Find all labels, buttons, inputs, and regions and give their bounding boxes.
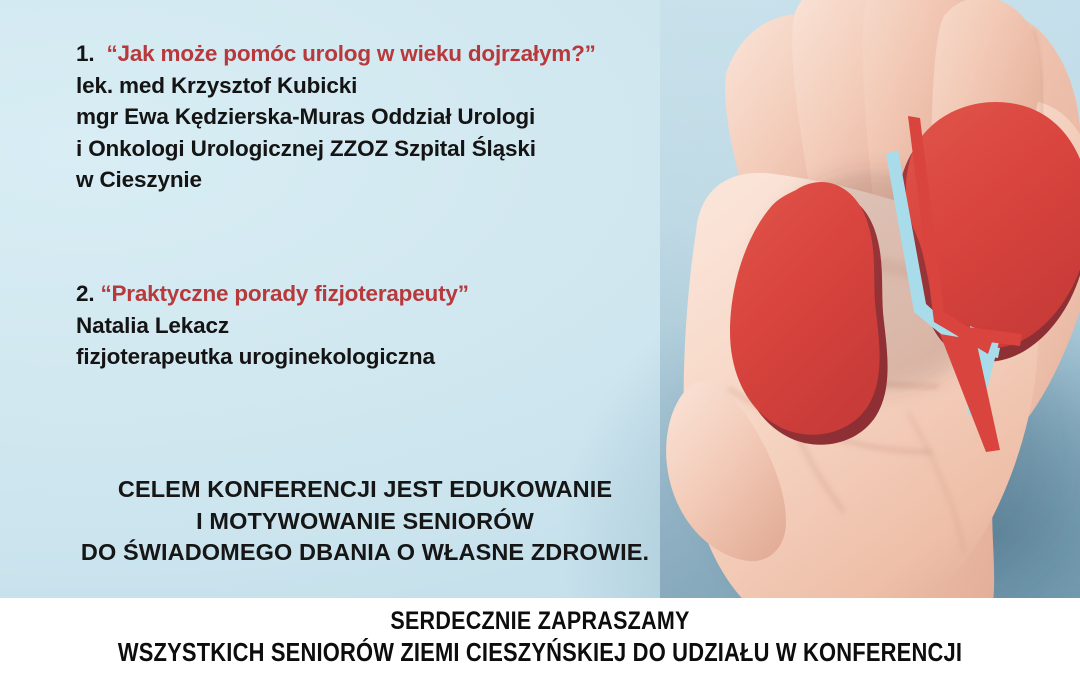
mission-line-3: DO ŚWIADOMEGO DBANIA O WŁASNE ZDROWIE.	[0, 537, 730, 569]
talk-1-title: “Jak może pomóc urolog w wieku dojrzałym…	[106, 41, 595, 66]
talk-2-line-2: fizjoterapeutka uroginekologiczna	[76, 341, 469, 373]
talk-1-line-4: w Cieszynie	[76, 164, 596, 196]
talk-2-block: 2. “Praktyczne porady fizjoterapeuty” Na…	[76, 278, 469, 373]
footer-line-2: WSZYSTKICH SENIORÓW ZIEMI CIESZYŃSKIEJ D…	[76, 637, 1005, 669]
talk-2-title: “Praktyczne porady fizjoterapeuty”	[100, 281, 468, 306]
talk-1-line-3: i Onkologi Urologicznej ZZOZ Szpital Ślą…	[76, 133, 596, 165]
footer-invitation-band: SERDECZNIE ZAPRASZAMY WSZYSTKICH SENIORÓ…	[0, 598, 1080, 675]
hands-illustration	[608, 0, 1080, 675]
hands-holding-kidneys-svg	[608, 0, 1080, 675]
talk-2-number: 2.	[76, 281, 94, 306]
talk-2-heading: 2. “Praktyczne porady fizjoterapeuty”	[76, 278, 469, 310]
talk-1-number: 1.	[76, 41, 94, 66]
conference-poster: 1. “Jak może pomóc urolog w wieku dojrza…	[0, 0, 1080, 675]
mission-line-2: I MOTYWOWANIE SENIORÓW	[0, 506, 730, 538]
talk-1-line-1: lek. med Krzysztof Kubicki	[76, 70, 596, 102]
talk-2-line-1: Natalia Lekacz	[76, 310, 469, 342]
mission-statement: CELEM KONFERENCJI JEST EDUKOWANIE I MOTY…	[0, 474, 730, 569]
talk-1-line-2: mgr Ewa Kędzierska-Muras Oddział Urologi	[76, 101, 596, 133]
talk-1-heading: 1. “Jak może pomóc urolog w wieku dojrza…	[76, 38, 596, 70]
talk-1-block: 1. “Jak może pomóc urolog w wieku dojrza…	[76, 38, 596, 196]
mission-line-1: CELEM KONFERENCJI JEST EDUKOWANIE	[0, 474, 730, 506]
footer-line-1: SERDECZNIE ZAPRASZAMY	[76, 598, 1005, 637]
